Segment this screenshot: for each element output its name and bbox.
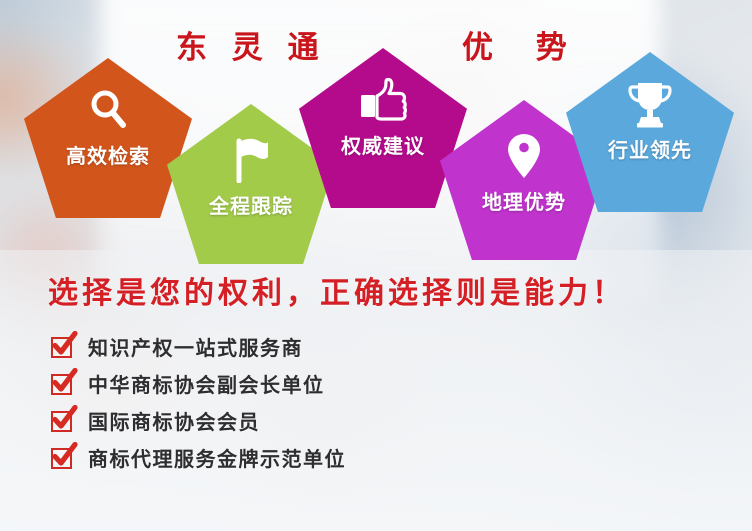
feature-label: 全程跟踪: [209, 190, 293, 219]
list-item-label: 商标代理服务金牌示范单位: [88, 443, 346, 472]
promotional-banner: 东 灵 通 优 势 高效检索 全程跟踪: [0, 0, 752, 531]
trophy-icon: [627, 78, 673, 130]
feature-pentagon-industry-leading[interactable]: 行业领先: [566, 52, 734, 212]
flag-icon: [230, 134, 272, 186]
main-slogan: 选择是您的权利，正确选择则是能力！: [48, 268, 626, 312]
list-item: 国际商标协会会员: [50, 402, 346, 439]
location-pin-icon: [506, 130, 542, 182]
list-item: 知识产权一站式服务商: [50, 328, 346, 365]
magnifier-icon: [88, 84, 128, 136]
feature-label: 高效检索: [66, 140, 150, 169]
feature-pentagon-high-efficiency-search[interactable]: 高效检索: [24, 58, 192, 218]
feature-pentagon-row: 高效检索 全程跟踪 权威建议: [0, 0, 752, 280]
feature-pentagon-authoritative-advice[interactable]: 权威建议: [299, 48, 467, 208]
list-item-label: 国际商标协会会员: [88, 406, 260, 435]
checkmark-icon: [50, 445, 76, 471]
list-item-label: 中华商标协会副会长单位: [88, 369, 325, 398]
list-item-label: 知识产权一站式服务商: [88, 332, 303, 361]
checkmark-icon: [50, 334, 76, 360]
list-item: 中华商标协会副会长单位: [50, 365, 346, 402]
feature-label: 权威建议: [341, 130, 425, 159]
feature-label: 行业领先: [608, 134, 692, 163]
list-item: 商标代理服务金牌示范单位: [50, 439, 346, 476]
feature-label: 地理优势: [482, 186, 566, 215]
checkmark-icon: [50, 408, 76, 434]
thumbs-up-icon: [359, 74, 407, 126]
credentials-checklist: 知识产权一站式服务商 中华商标协会副会长单位 国际商标协会会员: [50, 328, 346, 476]
checkmark-icon: [50, 371, 76, 397]
